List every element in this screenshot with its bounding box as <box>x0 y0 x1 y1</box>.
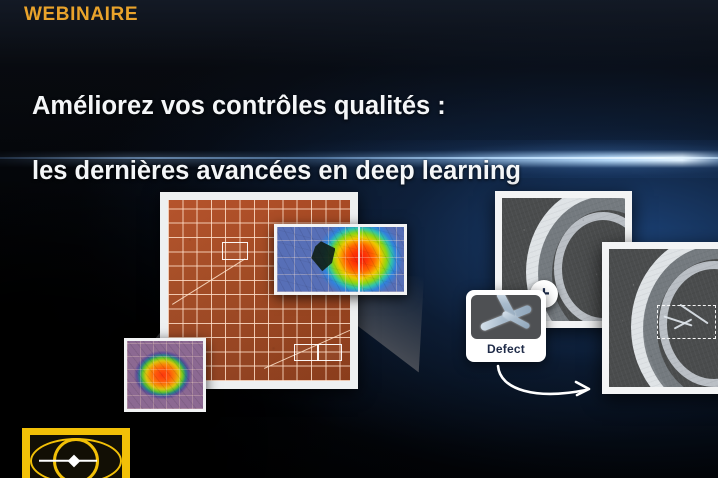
thermal-heatmap-circular <box>127 341 203 409</box>
highlighted-cell-lower-a <box>294 344 319 361</box>
defect-card-label: Defect <box>487 342 525 356</box>
company-logo <box>22 428 130 478</box>
ct-scan-image-annotated <box>609 249 718 387</box>
defect-detection-composite: + Defect <box>468 180 718 420</box>
defect-class-card[interactable]: Defect <box>466 290 546 362</box>
kicker-label: WEBINAIRE <box>24 4 138 26</box>
defect-thumbnail-icon <box>471 295 541 339</box>
thermal-split-line <box>358 227 360 292</box>
curved-arrow-icon <box>494 362 604 404</box>
highlighted-cell-upper <box>222 242 248 260</box>
thermal-inset-bottom-left <box>124 338 206 412</box>
thermography-composite <box>96 180 426 415</box>
webinar-slide: WEBINAIRE Améliorez vos contrôles qualit… <box>0 0 718 478</box>
ct-image-panel-front <box>602 242 718 394</box>
thermal-inset-top <box>274 224 407 295</box>
thermal-heatmap-crack <box>277 227 404 292</box>
thermal-texture <box>127 341 203 409</box>
thermal-texture <box>277 227 404 292</box>
defect-bounding-box <box>657 305 716 339</box>
highlighted-cell-lower-b <box>317 344 342 361</box>
logo-inner-panel <box>30 435 122 478</box>
title-line-1: Améliorez vos contrôles qualités : <box>32 90 521 122</box>
